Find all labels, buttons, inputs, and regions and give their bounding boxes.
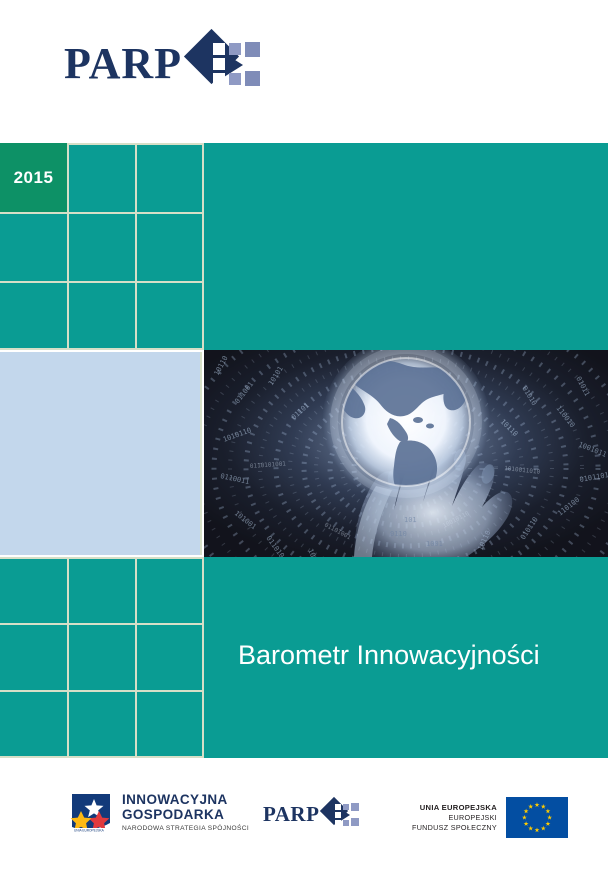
eu-line-3: FUNDUSZ SPOŁECZNY (412, 823, 497, 833)
page-subtitle: Barometr Innowacyjności (238, 637, 608, 673)
grid-line-v-3 (202, 143, 204, 350)
grid-line-h-b1 (0, 623, 204, 625)
mark-sq-w1-sm (335, 804, 341, 810)
middle-band: 10110 011001 1010110 0110011 101001 0110… (0, 350, 608, 557)
svg-text:UNIA EUROPEJSKA: UNIA EUROPEJSKA (74, 829, 105, 833)
grid-line-h-b0 (0, 557, 204, 559)
grid-line-h-2 (0, 281, 204, 283)
grid-line-v-b2 (135, 557, 137, 758)
teal-band-top: 2015 Działanie 3.3.2 PO IG pomiar końcow… (0, 143, 608, 350)
parp-wordmark-footer: PARP (263, 804, 319, 825)
svg-text:0110: 0110 (390, 530, 407, 538)
mark-sq-o1-sm (351, 803, 359, 811)
ig-line-1: INNOWACYJNA (122, 792, 249, 807)
eu-logo: UNIA EUROPEJSKA EUROPEJSKI FUNDUSZ SPOŁE… (412, 797, 568, 838)
parp-logo-header: PARP (64, 33, 270, 95)
innowacyjna-gospodarka-stars-icon: UNIA EUROPEJSKA (68, 791, 114, 835)
page-subtitle-line-1: Barometr Innowacyjności (238, 637, 608, 673)
mark-sq-l1-sm (343, 804, 349, 810)
mark-square-outer-1 (245, 42, 260, 57)
globe-in-hand-image: 10110 011001 1010110 0110011 101001 0110… (204, 350, 608, 557)
eu-line-1: UNIA EUROPEJSKA (412, 803, 497, 813)
mark-sq-w2-sm (335, 812, 341, 818)
grid-lines-bottom (0, 557, 204, 758)
light-blue-panel (0, 352, 202, 555)
mark-sq-w3-sm (335, 820, 341, 826)
ig-line-2: GOSPODARKA (122, 807, 249, 822)
eu-line-2: EUROPEJSKI (412, 813, 497, 823)
mark-square-outer-2 (245, 71, 260, 86)
eu-flag-icon (506, 797, 568, 838)
mark-square-light-2 (229, 73, 241, 85)
grid-line-v-2 (135, 143, 137, 350)
eu-logo-text: UNIA EUROPEJSKA EUROPEJSKI FUNDUSZ SPOŁE… (412, 803, 497, 833)
grid-line-h-1 (0, 212, 204, 214)
grid-line-v-b3 (202, 557, 204, 758)
mark-sq-o2-sm (351, 818, 359, 826)
year-badge-label: 2015 (14, 168, 54, 188)
grid-line-h-b2 (0, 690, 204, 692)
ig-line-3: NARODOWA STRATEGIA SPÓJNOŚCI (122, 823, 249, 834)
mark-square-white-2 (213, 58, 225, 70)
grid-line-v-b1 (67, 557, 69, 758)
mark-square-white-1 (213, 43, 225, 55)
parp-wordmark: PARP (64, 42, 182, 86)
parp-diamond-mark-icon-footer (324, 799, 363, 830)
grid-line-v-1 (67, 143, 69, 350)
innowacyjna-gospodarka-text: INNOWACYJNA GOSPODARKA NARODOWA STRATEGI… (122, 792, 249, 834)
mark-square-light-1 (229, 43, 241, 55)
svg-text:101: 101 (404, 516, 417, 524)
year-badge: 2015 (0, 143, 67, 212)
parp-diamond-mark-icon (192, 33, 270, 95)
svg-text:1001: 1001 (426, 540, 443, 548)
page-header: PARP (0, 0, 608, 143)
parp-logo-footer: PARP (263, 799, 363, 830)
mark-sq-l2-sm (343, 820, 349, 826)
innowacyjna-gospodarka-logo: UNIA EUROPEJSKA INNOWACYJNA GOSPODARKA N… (68, 791, 249, 835)
mark-square-white-3 (213, 73, 225, 85)
